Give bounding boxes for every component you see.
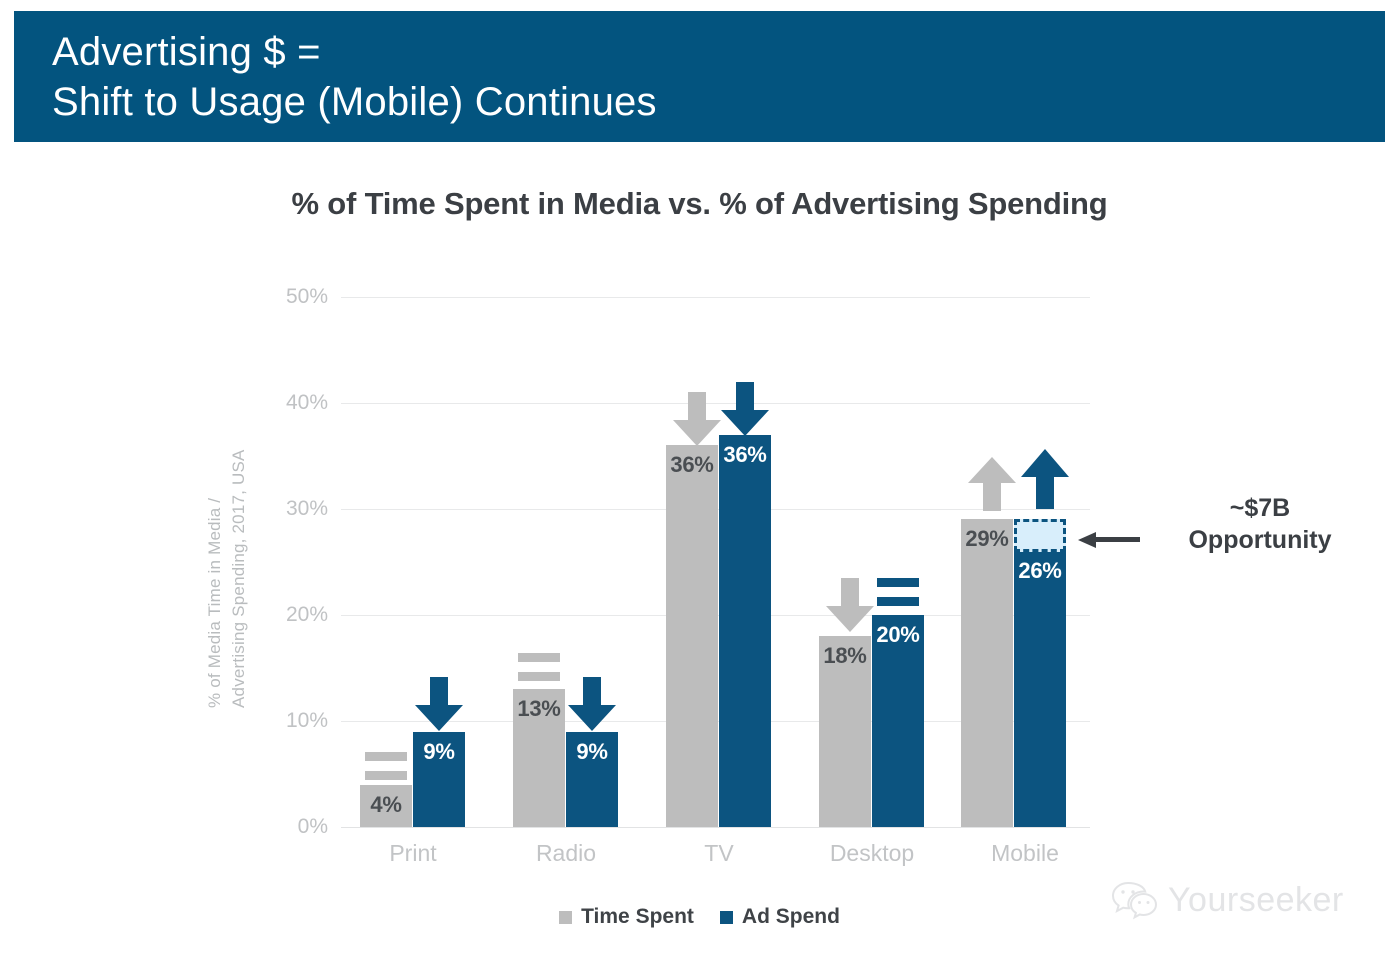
bar-label-ad-spend-mobile: 26% (1014, 558, 1066, 584)
marker-up-time-mobile (966, 455, 1018, 511)
y-axis-label-line-1: % of Media Time in Media / (205, 498, 225, 708)
x-tick-tv: TV (639, 840, 799, 867)
gridline-50 (341, 297, 1090, 298)
y-tick-50: 50% (258, 285, 328, 309)
bar-label-ad-spend-print: 9% (413, 739, 465, 765)
y-axis-label-line-2: Advertising Spending, 2017, USA (229, 449, 249, 708)
y-axis-label: % of Media Time in Media / Advertising S… (187, 330, 247, 730)
x-tick-radio: Radio (486, 840, 646, 867)
marker-up-ad-mobile (1019, 447, 1071, 509)
marker-down-time-tv (671, 392, 723, 448)
gridline-0 (341, 827, 1090, 828)
bar-label-ad-spend-radio: 9% (566, 739, 618, 765)
legend-item-time-spent[interactable]: Time Spent (559, 905, 694, 929)
marker-down-ad-print (413, 677, 465, 733)
legend-label-time-spent: Time Spent (581, 905, 694, 929)
opportunity-annotation: ~$7B Opportunity (1140, 492, 1380, 556)
bar-label-time-spent-tv: 36% (666, 452, 718, 478)
bar-label-time-spent-print: 4% (360, 792, 412, 818)
bar-label-time-spent-desktop: 18% (819, 643, 871, 669)
bar-ad-spend-mobile[interactable] (1014, 551, 1066, 827)
bar-chart: % of Media Time in Media / Advertising S… (0, 0, 1399, 960)
y-tick-0: 0% (258, 815, 328, 839)
legend-swatch-time-spent (559, 911, 572, 924)
opportunity-annotation-label: Opportunity (1140, 524, 1380, 556)
watermark: Yourseeker (1112, 880, 1344, 920)
opportunity-annotation-amount: ~$7B (1140, 492, 1380, 524)
legend-label-ad-spend: Ad Spend (742, 905, 840, 929)
x-tick-mobile: Mobile (945, 840, 1105, 867)
marker-equals-ad-desktop (877, 578, 919, 608)
y-tick-30: 30% (258, 497, 328, 521)
x-tick-desktop: Desktop (792, 840, 952, 867)
bar-ad-spend-tv[interactable] (719, 435, 771, 827)
bar-label-time-spent-mobile: 29% (961, 526, 1013, 552)
legend-item-ad-spend[interactable]: Ad Spend (720, 905, 840, 929)
marker-down-time-desktop (824, 578, 876, 634)
opportunity-box[interactable] (1014, 519, 1066, 552)
opportunity-callout-arrow (1078, 531, 1140, 549)
marker-equals-time-print (365, 752, 407, 782)
marker-down-ad-radio (566, 677, 618, 733)
y-axis-ticks: 50% 40% 30% 20% 10% 0% (258, 0, 328, 960)
watermark-text: Yourseeker (1168, 881, 1344, 920)
bar-label-ad-spend-desktop: 20% (872, 622, 924, 648)
bar-time-spent-tv[interactable] (666, 445, 718, 827)
bar-label-time-spent-radio: 13% (513, 696, 565, 722)
y-tick-40: 40% (258, 391, 328, 415)
legend-swatch-ad-spend (720, 911, 733, 924)
marker-down-ad-tv (719, 382, 771, 438)
bar-label-ad-spend-tv: 36% (719, 442, 771, 468)
x-tick-print: Print (333, 840, 493, 867)
marker-equals-time-radio (518, 653, 560, 683)
bar-time-spent-mobile[interactable] (961, 519, 1013, 827)
y-tick-10: 10% (258, 709, 328, 733)
y-tick-20: 20% (258, 603, 328, 627)
wechat-icon (1112, 880, 1158, 920)
